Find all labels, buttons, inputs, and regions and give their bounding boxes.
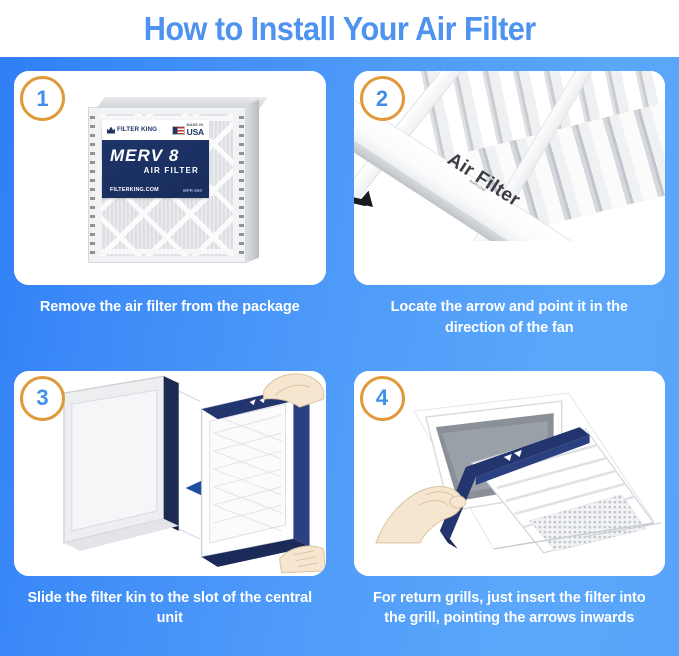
crown-icon <box>107 127 115 134</box>
mpr-rating: MPR 650 <box>183 188 202 193</box>
step-2-badge: 2 <box>360 76 405 121</box>
filter-brace-left <box>96 114 101 256</box>
photo-bottom-fade <box>354 241 666 285</box>
air-filter-panel <box>202 388 310 567</box>
brand-name: FILTER KING <box>117 127 157 134</box>
step-3-caption: Slide the filter kin to the slot of the … <box>26 588 313 629</box>
steps-grid: 1 <box>0 57 679 656</box>
step-2: 2 Air Filter AIRFLOW <box>340 57 679 357</box>
page-title: How to Install Your Air Filter <box>144 10 536 48</box>
brand-url: FILTERKING.COM <box>110 187 159 193</box>
step-1: 1 <box>0 57 340 357</box>
filter-label-body: MERV 8 AIR FILTER FILTERKING.COM MPR 650 <box>102 140 209 198</box>
alignment-guide-2 <box>179 528 200 538</box>
step-4-card: 4 <box>354 371 666 576</box>
filter-label-header: FILTER KING MADE IN USA <box>102 120 209 140</box>
title-bar: How to Install Your Air Filter <box>0 0 679 57</box>
merv-rating: MERV 8 <box>110 147 201 164</box>
filter-side-edge <box>246 100 259 263</box>
step-3-badge: 3 <box>20 376 65 421</box>
step-4-badge: 4 <box>360 376 405 421</box>
alignment-guide <box>179 391 200 401</box>
step-2-card: 2 Air Filter AIRFLOW <box>354 71 666 285</box>
step-3-card: 3 <box>14 371 326 576</box>
step-1-caption: Remove the air filter from the package <box>26 297 313 318</box>
filter-king-logo: FILTER KING <box>107 127 157 134</box>
step-3: 3 <box>0 357 340 656</box>
air-handler-slot <box>64 376 179 551</box>
filter-label-footer: FILTERKING.COM MPR 650 <box>110 187 202 193</box>
hand-holding-filter <box>375 486 465 542</box>
air-filter-sublabel: AIR FILTER <box>110 166 199 175</box>
made-in-usa-badge: MADE IN USA <box>172 124 204 136</box>
step-1-card: 1 <box>14 71 326 285</box>
infographic-root: How to Install Your Air Filter 1 <box>0 0 679 656</box>
filter-brace-right <box>233 114 238 256</box>
filter-notches-right <box>239 116 244 254</box>
filter-label: FILTER KING MADE IN USA <box>102 120 209 198</box>
step-2-caption: Locate the arrow and point it in the dir… <box>366 297 653 338</box>
filter-notches-left <box>90 116 95 254</box>
filter-brace-bottom <box>96 249 238 254</box>
usa-flag-icon <box>172 126 185 135</box>
usa-label: USA <box>187 128 204 137</box>
step-4-caption: For return grills, just insert the filte… <box>366 588 653 629</box>
made-in-usa-text: MADE IN USA <box>187 124 204 136</box>
filter-face: FILTER KING MADE IN USA <box>88 107 246 263</box>
step-4: 4 <box>340 357 679 656</box>
step-1-badge: 1 <box>20 76 65 121</box>
merv-8-filter-photo: FILTER KING MADE IN USA <box>88 97 259 265</box>
